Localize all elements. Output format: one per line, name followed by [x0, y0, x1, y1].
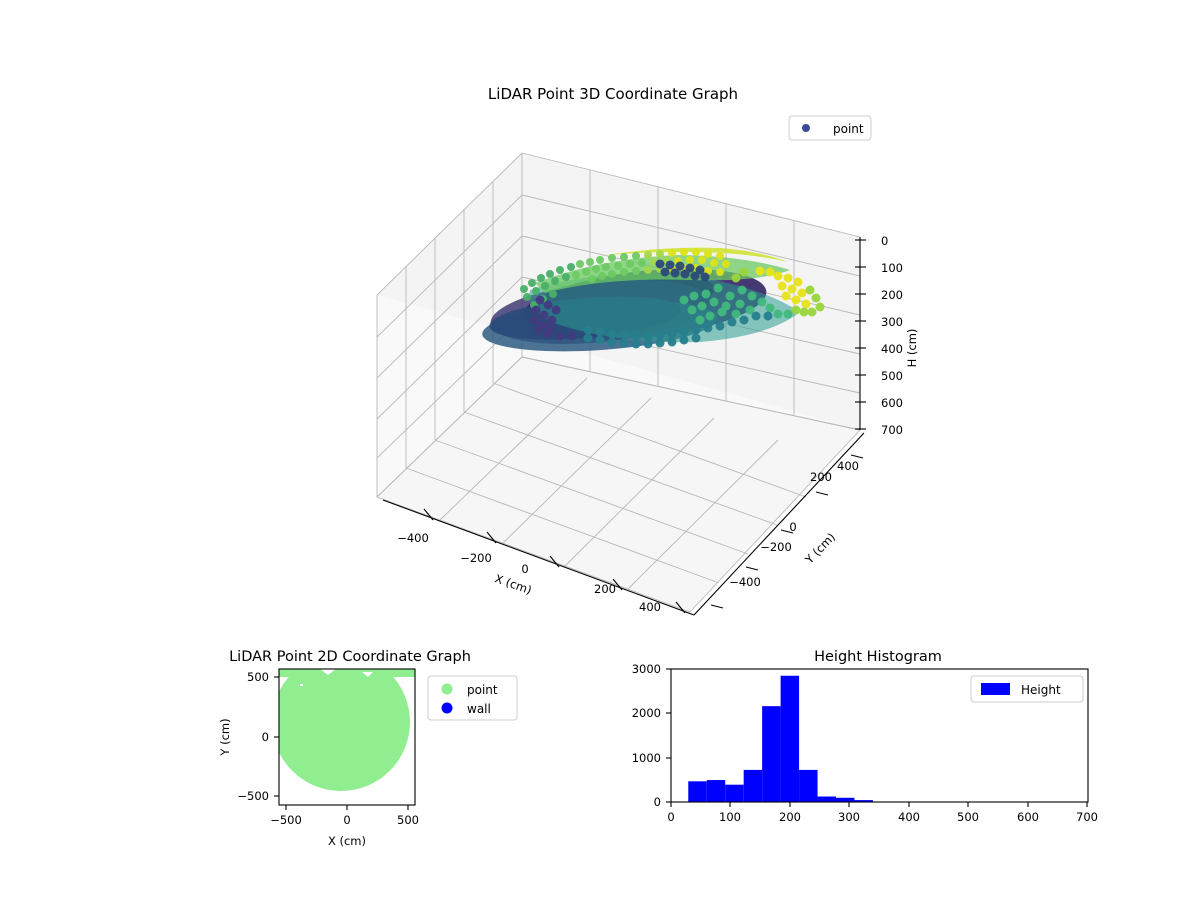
yaxis-tick-0: 0 — [789, 520, 796, 534]
histogram-bars — [688, 676, 873, 802]
plot2d-title: LiDAR Point 2D Coordinate Graph — [229, 649, 471, 665]
plot2d-xlabel: X (cm) — [328, 834, 366, 848]
histogram-xtick-300: 300 — [838, 810, 860, 824]
zaxis-tick-600: 600 — [881, 396, 903, 410]
plot3d-legend[interactable]: point — [789, 116, 871, 140]
matplotlib-figure: 0 100 200 300 400 500 600 700 H (cm) −40… — [0, 0, 1200, 900]
histogram-bar — [781, 676, 799, 802]
legend-swatch-height — [981, 683, 1010, 695]
plot2d-ytick-500: 500 — [247, 670, 269, 684]
legend-marker-point-2d — [442, 684, 453, 695]
histogram-bar — [762, 706, 780, 802]
legend-label-wall: wall — [467, 702, 491, 716]
plot2d-xtick-0: 0 — [343, 813, 350, 827]
histogram-xtick-200: 200 — [779, 810, 801, 824]
zaxis-label: H (cm) — [905, 329, 919, 368]
histogram-ytick-3000: 3000 — [632, 662, 661, 676]
histogram-xtick-500: 500 — [957, 810, 979, 824]
legend-label-point: point — [833, 122, 864, 136]
histogram-xtick-400: 400 — [898, 810, 920, 824]
plot2d-ytick-0: 0 — [262, 730, 269, 744]
histogram-xtick-100: 100 — [719, 810, 741, 824]
zaxis-3d: 0 100 200 300 400 500 600 700 H (cm) — [855, 234, 919, 437]
plot2d-ylabel: Y (cm) — [218, 718, 232, 756]
plot2d-ytick-m500: −500 — [237, 789, 269, 803]
legend-label-height: Height — [1021, 683, 1061, 697]
point-cloud-2d — [272, 653, 415, 791]
zaxis-tick-300: 300 — [881, 315, 903, 329]
histogram-bar — [818, 797, 836, 802]
histogram-ytick-0: 0 — [654, 795, 661, 809]
zaxis-tick-200: 200 — [881, 288, 903, 302]
axes-3d: 0 100 200 300 400 500 600 700 H (cm) −40… — [377, 85, 919, 615]
histogram-xtick-600: 600 — [1017, 810, 1039, 824]
yaxis-tick-200: 200 — [810, 470, 832, 484]
histogram-bar — [688, 781, 706, 802]
legend-label-point-2d: point — [467, 683, 498, 697]
histogram-ytick-2000: 2000 — [632, 706, 661, 720]
yaxis-label: Y (cm) — [801, 530, 838, 567]
zaxis-tick-100: 100 — [881, 261, 903, 275]
zaxis-tick-400: 400 — [881, 342, 903, 356]
plot2d-xtick-500: 500 — [397, 813, 419, 827]
yaxis-tick-m400: −400 — [729, 575, 761, 589]
legend-marker-wall — [442, 703, 453, 714]
zaxis-tick-700: 700 — [881, 423, 903, 437]
xaxis-tick-m400: −400 — [397, 531, 429, 545]
xaxis-tick-200: 200 — [594, 582, 616, 596]
plot3d-title: LiDAR Point 3D Coordinate Graph — [488, 85, 738, 103]
yaxis-tick-m200: −200 — [760, 540, 792, 554]
plot2d-legend[interactable]: point wall — [428, 676, 517, 720]
histogram-ytick-1000: 1000 — [632, 751, 661, 765]
histogram-title: Height Histogram — [814, 649, 942, 665]
yaxis-tick-400: 400 — [837, 459, 859, 473]
figure-canvas: 0 100 200 300 400 500 600 700 H (cm) −40… — [0, 0, 1200, 900]
plot2d-xtick-m500: −500 — [270, 813, 302, 827]
histogram-bar — [707, 780, 725, 802]
histogram-xtick-700: 700 — [1076, 810, 1098, 824]
histogram-bar — [836, 798, 854, 802]
zaxis-tick-0: 0 — [881, 234, 888, 248]
histogram-xtick-0: 0 — [667, 810, 674, 824]
histogram-bar — [799, 770, 817, 802]
axes-histogram: Height Histogram 0 1000 2000 3000 0 100 … — [632, 649, 1098, 824]
histogram-bar — [725, 785, 743, 802]
xaxis-tick-400: 400 — [639, 600, 661, 614]
zaxis-tick-500: 500 — [881, 369, 903, 383]
xaxis-tick-0: 0 — [521, 562, 528, 576]
histogram-bar — [744, 770, 762, 802]
axes-2d: LiDAR Point 2D Coordinate Graph 500 0 −5… — [218, 649, 517, 848]
xaxis-tick-m200: −200 — [460, 551, 492, 565]
legend-marker-point — [802, 124, 810, 132]
histogram-legend[interactable]: Height — [971, 676, 1083, 702]
